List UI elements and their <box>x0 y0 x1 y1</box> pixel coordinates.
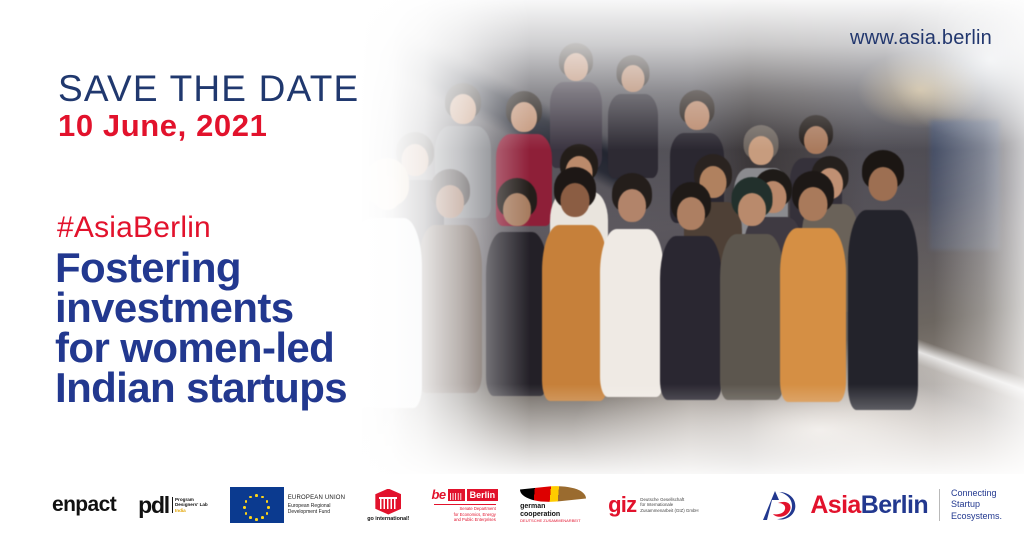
asiaberlin-tagline-line-3: Ecosystems. <box>951 511 1002 522</box>
pdl-logo[interactable]: pdl Program Designers' Lab India <box>138 492 208 519</box>
website-url[interactable]: www.asia.berlin <box>850 27 992 50</box>
go-international-caption: go international! <box>367 516 409 522</box>
giz-wordmark: giz <box>608 492 636 518</box>
german-cooperation-text: german cooperation DEUTSCHE ZUSAMMENARBE… <box>520 503 580 524</box>
person-figure <box>848 160 918 410</box>
be-berlin-be: be <box>431 487 445 502</box>
page-title: Fostering investments for women-led Indi… <box>55 248 425 408</box>
eu-flag-icon <box>230 487 284 523</box>
asiaberlin-mark-icon <box>759 488 799 522</box>
partner-logos-left: enpact pdl Program Designers' Lab India <box>52 486 699 524</box>
asiaberlin-tagline-line-2: Startup <box>951 499 1002 510</box>
be-berlin-department-text: Senate Department for Economics, Energy … <box>434 504 496 522</box>
person-figure <box>780 180 846 402</box>
enpact-logo[interactable]: enpact <box>52 493 116 517</box>
german-cooperation-line-1: german <box>520 503 580 511</box>
person-figure <box>600 182 664 397</box>
logo-divider <box>939 489 940 521</box>
european-union-logo[interactable]: EUROPEAN UNION European Regional Develop… <box>230 487 345 523</box>
headline-line-3: for women-led <box>55 328 425 368</box>
eu-logo-text: EUROPEAN UNION European Regional Develop… <box>288 495 345 515</box>
event-date: 10 June, 2021 <box>58 108 267 144</box>
headline-line-2: investments <box>55 288 425 328</box>
german-cooperation-logo[interactable]: german cooperation DEUTSCHE ZUSAMMENARBE… <box>520 486 586 524</box>
save-the-date-banner: www.asia.berlin SAVE THE DATE 10 June, 2… <box>0 0 1024 536</box>
be-berlin-berlin: Berlin <box>467 489 499 501</box>
pdl-tagline: Program Designers' Lab India <box>172 497 208 513</box>
be-berlin-sub-line-2: for Economics, Energy <box>454 512 496 517</box>
asiaberlin-tagline-line-1: Connecting <box>951 488 1002 499</box>
asiaberlin-word-berlin: Berlin <box>861 491 928 519</box>
asiaberlin-wordmark: AsiaBerlin <box>810 491 928 520</box>
person-figure <box>720 186 784 400</box>
be-berlin-logo[interactable]: be Berlin Senate Department for Economic… <box>431 487 498 522</box>
person-figure <box>542 176 608 401</box>
save-the-date-heading: SAVE THE DATE <box>58 68 359 110</box>
asiaberlin-word-asia: Asia <box>810 491 860 519</box>
german-cooperation-line-3: DEUTSCHE ZUSAMMENARBEIT <box>520 519 580 524</box>
be-berlin-wordmark: be Berlin <box>431 487 498 502</box>
event-hashtag: #AsiaBerlin <box>57 211 211 245</box>
partner-logo-bar: enpact pdl Program Designers' Lab India <box>0 474 1024 536</box>
be-berlin-sub-line-1: Senate Department <box>459 506 495 511</box>
eu-title: EUROPEAN UNION <box>288 495 345 503</box>
brandenburg-gate-icon <box>375 489 401 515</box>
pdl-tagline-line-3: India <box>175 508 208 513</box>
asiaberlin-tagline: Connecting Startup Ecosystems. <box>951 488 1002 522</box>
headline-line-4: Indian startups <box>55 368 425 408</box>
brandenburg-gate-icon <box>448 489 465 501</box>
asiaberlin-logo[interactable]: AsiaBerlin Connecting Startup Ecosystems… <box>759 488 1002 522</box>
giz-subtitle: Deutsche Gesellschaft für Internationale… <box>640 497 698 514</box>
headline-line-1: Fostering <box>55 248 425 288</box>
be-berlin-sub-line-3: and Public Enterprises <box>454 517 496 522</box>
person-figure <box>660 190 722 400</box>
eu-subtitle-line-2: Development Fund <box>288 509 345 515</box>
giz-logo[interactable]: giz Deutsche Gesellschaft für Internatio… <box>608 492 698 518</box>
partner-logos-right: AsiaBerlin Connecting Startup Ecosystems… <box>759 488 1002 522</box>
giz-subtitle-line-3: Zusammenarbeit (GIZ) GmbH <box>640 508 698 514</box>
go-international-logo[interactable]: go international! <box>367 489 409 522</box>
pdl-wordmark: pdl <box>138 492 169 519</box>
